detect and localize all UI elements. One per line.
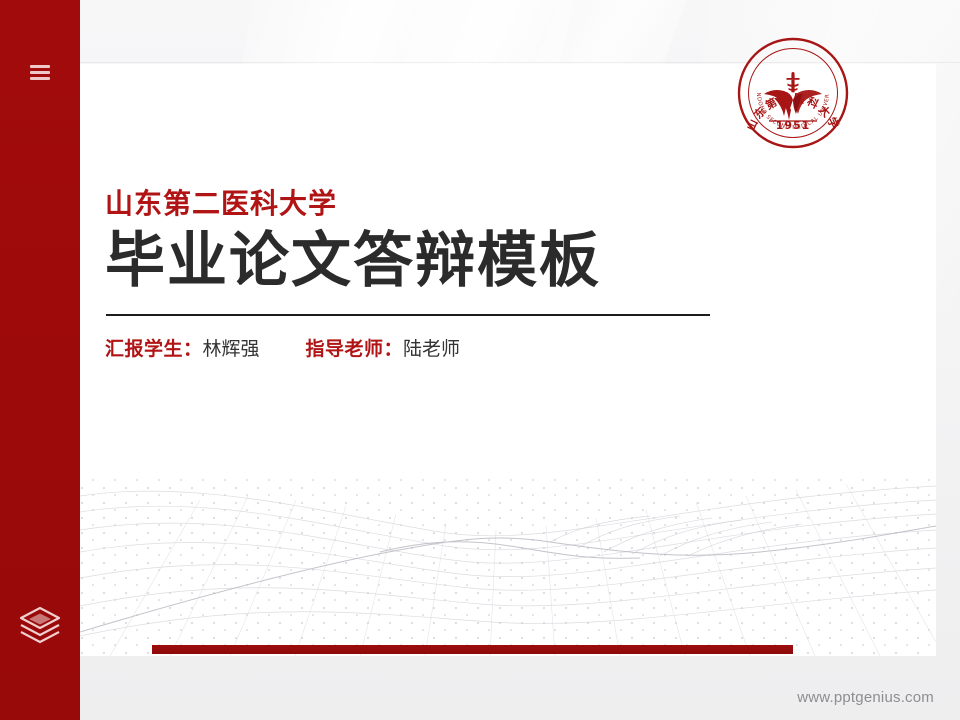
stacked-layers-icon [17,604,63,644]
advisor-name: 陆老师 [403,339,460,360]
hamburger-menu-icon [30,62,50,83]
presenter-name: 林辉强 [203,339,260,360]
footer-url: www.pptgenius.com [797,689,934,706]
left-sidebar-rail [0,0,80,720]
title-divider [106,314,710,316]
title-block: 山东第二医科大学 毕业论文答辩模板 汇报学生：林辉强指导老师：陆老师 [105,188,805,363]
university-logo: 山东第二医科大学 SHANDONG SECOND MEDICAL UNIVERS… [736,36,850,150]
wireframe-mesh-decoration [80,456,936,656]
bottom-accent-bar [152,645,793,654]
layers-button[interactable] [0,600,80,648]
page-title: 毕业论文答辩模板 [105,230,805,293]
presenter-label: 汇报学生： [105,339,203,360]
presentation-slide: 山东第二医科大学 SHANDONG SECOND MEDICAL UNIVERS… [0,0,960,720]
credits-line: 汇报学生：林辉强指导老师：陆老师 [105,338,805,363]
menu-button[interactable] [0,55,80,89]
school-name: 山东第二医科大学 [105,188,805,220]
advisor-label: 指导老师： [306,339,404,360]
